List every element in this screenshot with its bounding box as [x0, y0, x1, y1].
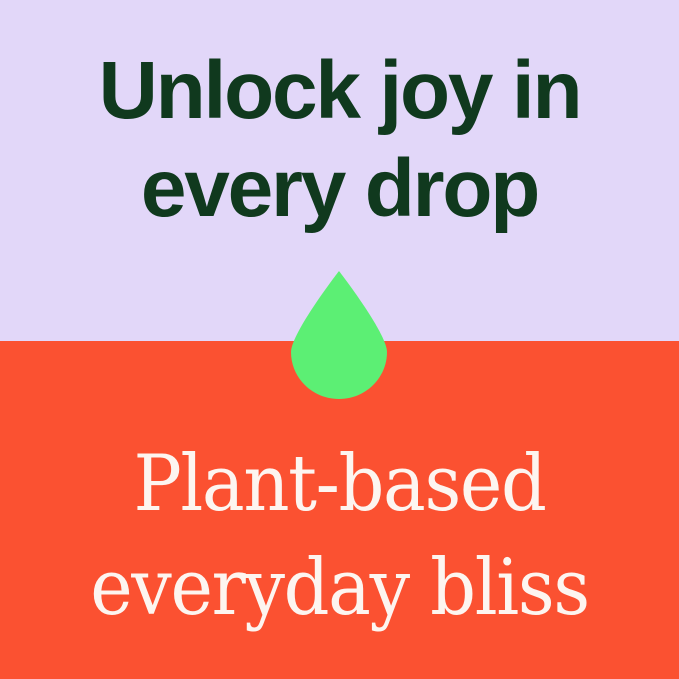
- subhead-line-1: Plant-based: [27, 432, 652, 536]
- water-droplet-icon: [291, 271, 387, 399]
- subhead-line-2: everyday bliss: [27, 536, 652, 640]
- headline-line-1: Unlock joy in: [0, 42, 679, 140]
- headline-line-2: every drop: [0, 140, 679, 238]
- headline: Unlock joy in every drop: [0, 42, 679, 238]
- subhead: Plant-based everyday bliss: [27, 432, 652, 640]
- promo-graphic-canvas: Unlock joy in every drop Plant-based eve…: [0, 0, 679, 679]
- droplet-shape: [291, 271, 387, 399]
